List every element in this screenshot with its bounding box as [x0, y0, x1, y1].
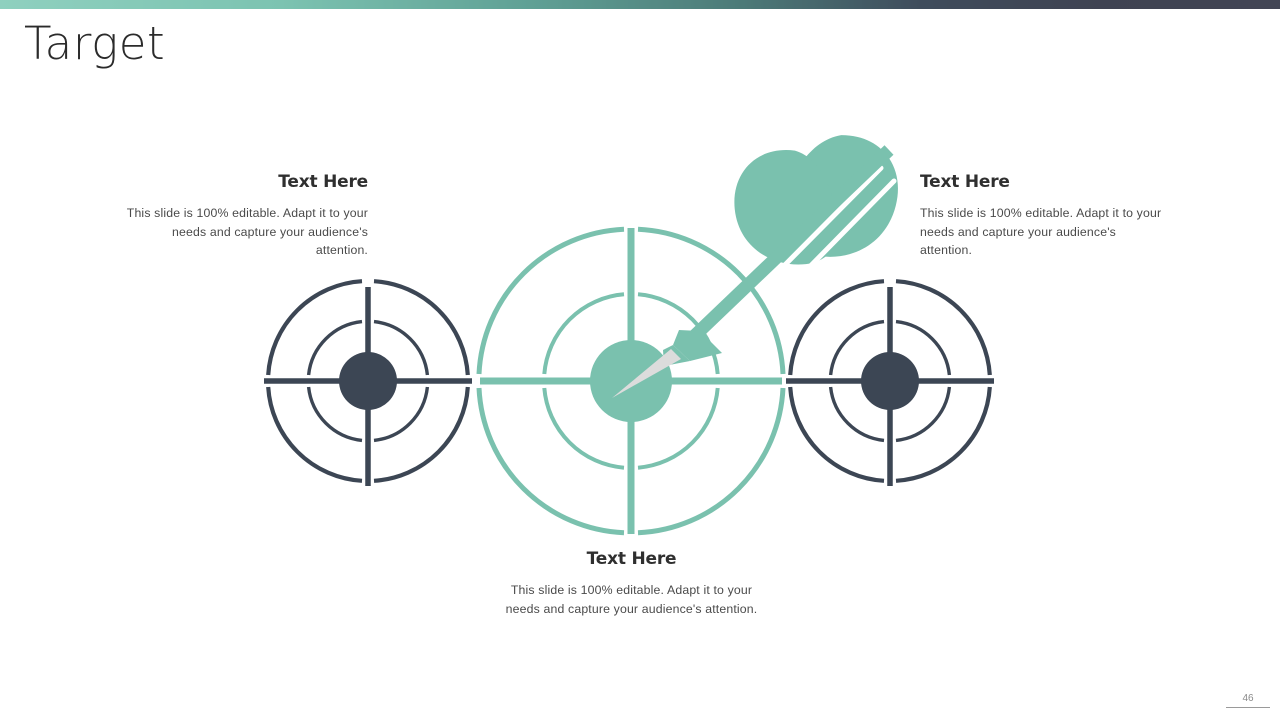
text-block-bottom-heading: Text Here	[505, 549, 758, 569]
left-target-icon	[264, 281, 472, 486]
text-block-bottom-body: This slide is 100% editable. Adapt it to…	[505, 581, 758, 618]
text-block-left: Text Here This slide is 100% editable. A…	[120, 172, 368, 260]
text-block-left-heading: Text Here	[120, 172, 368, 192]
right-target-icon	[786, 281, 994, 486]
text-block-right: Text Here This slide is 100% editable. A…	[920, 172, 1168, 260]
slide-canvas: Target	[0, 0, 1280, 720]
text-block-right-body: This slide is 100% editable. Adapt it to…	[920, 204, 1168, 260]
text-block-left-body: This slide is 100% editable. Adapt it to…	[120, 204, 368, 260]
text-block-bottom: Text Here This slide is 100% editable. A…	[505, 549, 758, 618]
center-target-icon	[479, 228, 783, 534]
top-accent-bar	[0, 0, 1280, 9]
page-number: 46	[1226, 693, 1270, 708]
dart-icon	[612, 123, 910, 398]
page-title: Target	[24, 18, 165, 70]
text-block-right-heading: Text Here	[920, 172, 1168, 192]
